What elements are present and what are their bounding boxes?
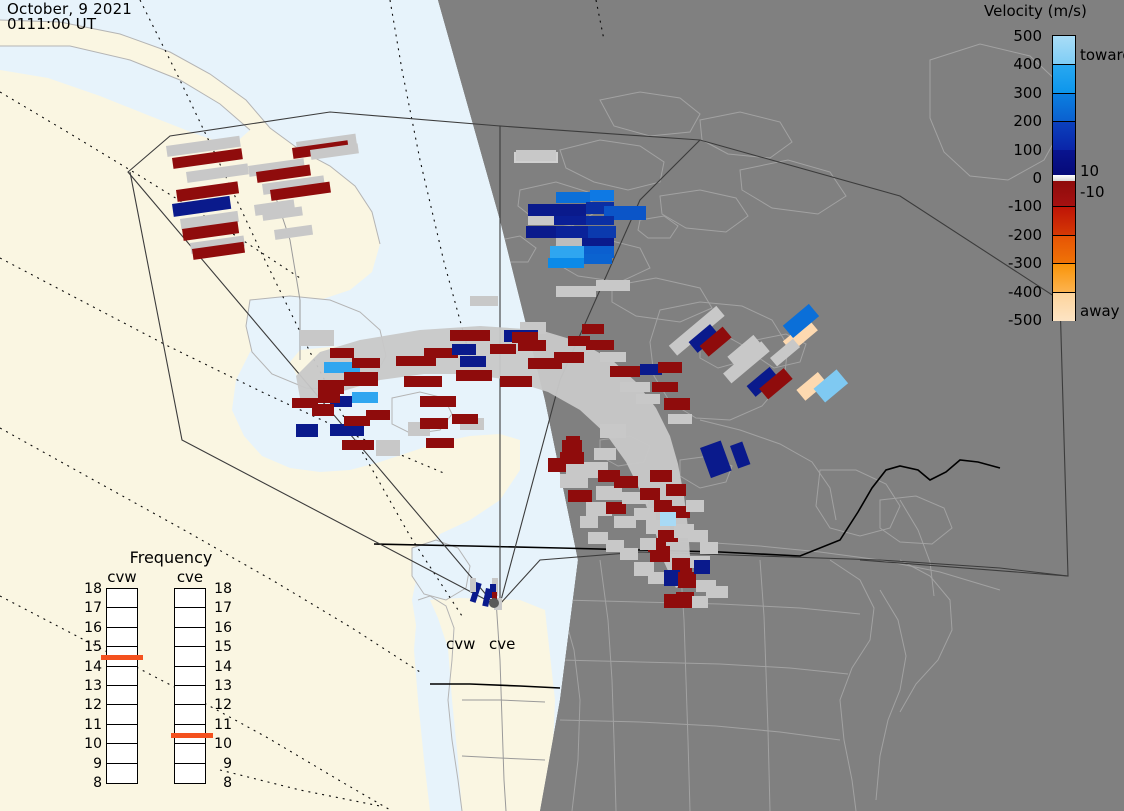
- colorbar-tick-label: 400: [980, 55, 1042, 73]
- frequency-cell: [175, 686, 205, 705]
- frequency-tick-label: 10: [210, 736, 232, 752]
- frequency-tick-label: 14: [210, 659, 232, 675]
- frequency-tick-label: 13: [210, 678, 232, 694]
- frequency-tick-label: 18: [210, 581, 232, 597]
- frequency-tick-label: 16: [80, 620, 102, 636]
- colorbar-title: Velocity (m/s): [984, 2, 1124, 20]
- timestamp-time: 0111:00 UT: [7, 17, 132, 32]
- frequency-column-label-cve: cve: [172, 568, 208, 586]
- colorbar-segment: [1053, 206, 1075, 235]
- frequency-cell: [175, 667, 205, 686]
- frequency-tick-label: 12: [80, 697, 102, 713]
- colorbar-segment: [1053, 93, 1075, 122]
- frequency-cell: [175, 647, 205, 666]
- frequency-tick-label: 12: [210, 697, 232, 713]
- frequency-tick-label: 13: [80, 678, 102, 694]
- frequency-cell: [107, 589, 137, 608]
- frequency-scale-cvw: [106, 588, 138, 784]
- frequency-cell: [107, 608, 137, 627]
- site-label-cve: cve: [489, 635, 515, 653]
- fanplot-canvas: October, 9 2021 0111:00 UT Velocity (m/s…: [0, 0, 1124, 811]
- frequency-tick-label: 17: [80, 600, 102, 616]
- frequency-tick-label: 10: [80, 736, 102, 752]
- frequency-cell: [107, 725, 137, 744]
- colorbar-tick-label: 300: [980, 84, 1042, 102]
- colorbar-tick-label: -300: [980, 254, 1042, 272]
- frequency-cell: [175, 608, 205, 627]
- colorbar-tick-label: 0: [980, 169, 1042, 187]
- colorbar-segment: [1053, 263, 1075, 292]
- frequency-tick-label: 8: [80, 775, 102, 791]
- frequency-cell: [175, 705, 205, 724]
- frequency-cell: [107, 744, 137, 763]
- colorbar-inner-upper-label: 10: [1080, 162, 1099, 180]
- colorbar-segment: [1053, 121, 1075, 150]
- colorbar-tick-label: -500: [980, 311, 1042, 329]
- colorbar-inner-lower-label: -10: [1080, 183, 1105, 201]
- colorbar-tick-label: -100: [980, 197, 1042, 215]
- frequency-cell: [175, 744, 205, 763]
- frequency-cell: [107, 667, 137, 686]
- frequency-scale-cve: [174, 588, 206, 784]
- frequency-cell: [107, 686, 137, 705]
- colorbar-segment: [1053, 292, 1075, 321]
- frequency-tick-label: 8: [210, 775, 232, 791]
- frequency-tick-label: 16: [210, 620, 232, 636]
- colorbar-tick-label: 100: [980, 141, 1042, 159]
- colorbar-tick-label: -200: [980, 226, 1042, 244]
- colorbar-segment: [1053, 150, 1075, 176]
- frequency-cell: [175, 764, 205, 783]
- frequency-marker-cvw: [101, 655, 143, 660]
- timestamp-overlay: October, 9 2021 0111:00 UT: [7, 2, 132, 32]
- site-label-cvw: cvw: [446, 635, 475, 653]
- colorbar-tick-label: -400: [980, 283, 1042, 301]
- frequency-tick-label: 11: [80, 717, 102, 733]
- frequency-tick-label: 17: [210, 600, 232, 616]
- frequency-tick-label: 9: [210, 756, 232, 772]
- frequency-cell: [107, 764, 137, 783]
- frequency-column-label-cvw: cvw: [104, 568, 140, 586]
- frequency-tick-label: 15: [80, 639, 102, 655]
- velocity-colorbar: Velocity (m/s) 5004003002001000-100-200-…: [978, 2, 1124, 332]
- frequency-cell: [175, 589, 205, 608]
- colorbar-segment: [1053, 181, 1075, 207]
- frequency-tick-label: 15: [210, 639, 232, 655]
- frequency-cell: [107, 628, 137, 647]
- frequency-cell: [107, 705, 137, 724]
- colorbar-segment: [1053, 235, 1075, 264]
- frequency-title: Frequency: [106, 548, 236, 567]
- colorbar-tick-label: 500: [980, 27, 1042, 45]
- frequency-tick-label: 11: [210, 717, 232, 733]
- frequency-tick-label: 14: [80, 659, 102, 675]
- frequency-legend: Frequency cvw cve 18171615141312111098 1…: [88, 548, 253, 798]
- frequency-marker-cve: [171, 733, 213, 738]
- colorbar-tick-label: 200: [980, 112, 1042, 130]
- colorbar-strip: [1052, 35, 1076, 321]
- frequency-cell: [175, 628, 205, 647]
- colorbar-toward-label: toward: [1080, 46, 1124, 64]
- colorbar-segment: [1053, 64, 1075, 93]
- colorbar-away-label: away: [1080, 302, 1120, 320]
- frequency-tick-label: 18: [80, 581, 102, 597]
- frequency-tick-label: 9: [80, 756, 102, 772]
- colorbar-segment: [1053, 36, 1075, 64]
